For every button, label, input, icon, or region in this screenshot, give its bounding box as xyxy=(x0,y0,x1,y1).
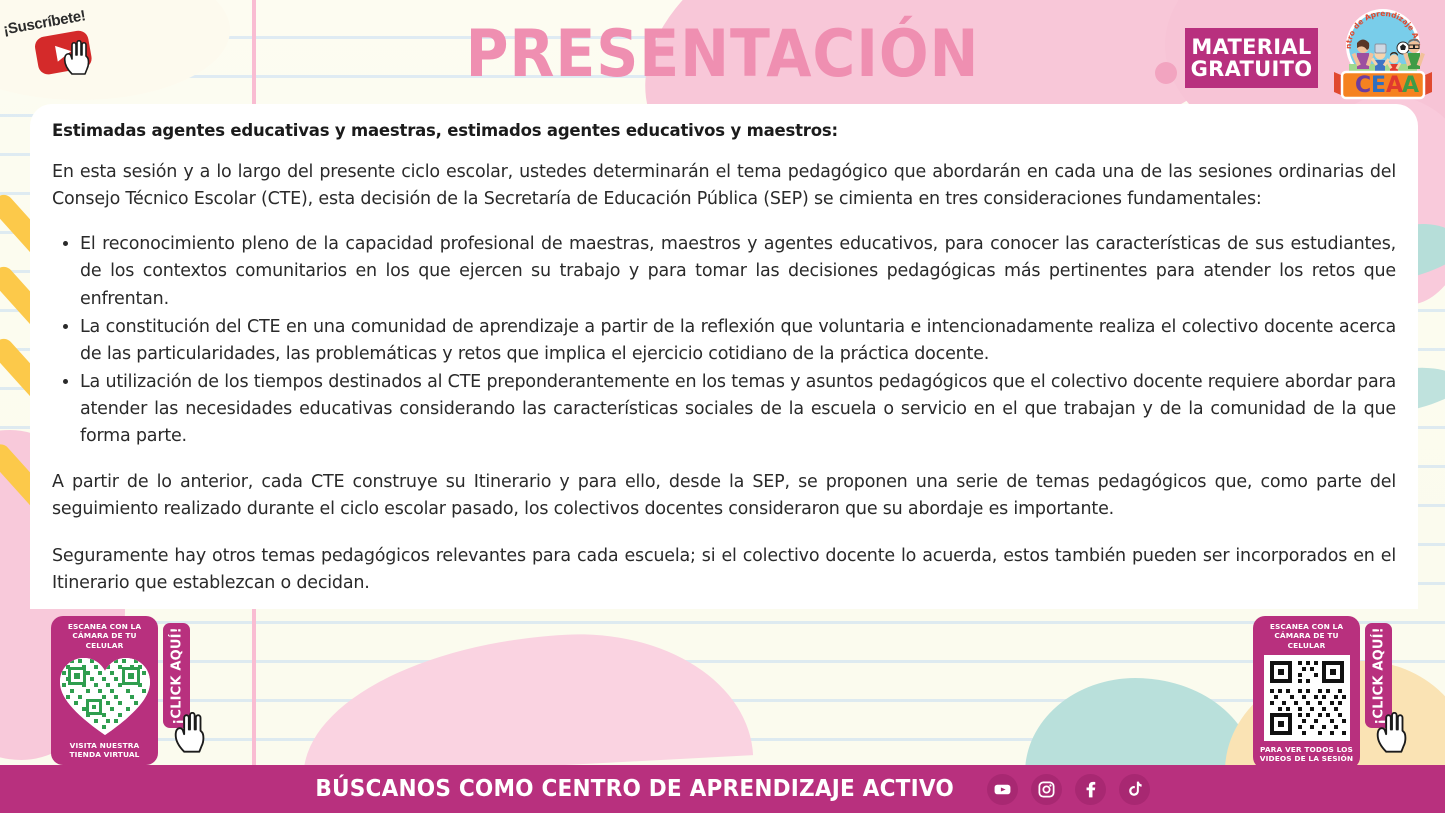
paragraph-2: A partir de lo anterior, cada CTE constr… xyxy=(52,469,1396,523)
svg-text:A: A xyxy=(1402,73,1419,98)
svg-text:A: A xyxy=(1386,73,1403,98)
content-card: Estimadas agentes educativas y maestras,… xyxy=(30,104,1418,609)
youtube-icon[interactable] xyxy=(987,774,1018,805)
footer-text: BÚSCANOS COMO CENTRO DE APRENDIZAJE ACTI… xyxy=(315,776,954,802)
click-here-label: ¡CLICK AQUÍ! xyxy=(169,627,184,725)
list-item: La utilización de los tiempos destinados… xyxy=(80,369,1396,450)
considerations-list: El reconocimiento pleno de la capacidad … xyxy=(80,231,1396,450)
footer-bar: BÚSCANOS COMO CENTRO DE APRENDIZAJE ACTI… xyxy=(0,765,1445,813)
click-here-label: ¡CLICK AQUÍ! xyxy=(1371,627,1386,725)
page-title: PRESENTACIÓN xyxy=(72,17,1373,92)
square-qr-code[interactable] xyxy=(1264,655,1350,741)
qr-caption-bottom: VISITA NUESTRA TIENDA VIRTUAL xyxy=(56,741,153,760)
facebook-icon[interactable] xyxy=(1075,774,1106,805)
material-gratuito-badge: MATERIAL GRATUITO xyxy=(1185,28,1318,88)
click-here-tab-right[interactable]: ¡CLICK AQUÍ! xyxy=(1365,623,1392,728)
qr-caption-top: ESCANEA CON LA CÁMARA DE TU CELULAR xyxy=(56,622,153,650)
svg-text:E: E xyxy=(1371,73,1386,98)
lead-paragraph: Estimadas agentes educativas y maestras,… xyxy=(52,121,1406,140)
qr-caption-top: ESCANEA CON LA CÁMARA DE TU CELULAR xyxy=(1258,622,1355,650)
heart-qr-code[interactable] xyxy=(58,655,152,737)
list-item: El reconocimiento pleno de la capacidad … xyxy=(80,231,1396,312)
badge-line-1: MATERIAL xyxy=(1191,36,1311,58)
qr-card-tienda-virtual[interactable]: ESCANEA CON LA CÁMARA DE TU CELULAR xyxy=(51,616,158,765)
header: ¡Suscríbete! PRESENTACIÓN MATERIAL GRATU… xyxy=(0,0,1445,105)
tiktok-icon[interactable] xyxy=(1119,774,1150,805)
qr-caption-bottom: PARA VER TODOS LOS VIDEOS DE LA SESIÓN xyxy=(1258,745,1355,764)
slide-page: ¡Suscríbete! PRESENTACIÓN MATERIAL GRATU… xyxy=(0,0,1445,813)
qr-card-videos-sesion[interactable]: ESCANEA CON LA CÁMARA DE TU CELULAR xyxy=(1253,616,1360,769)
paragraph-1: En esta sesión y a lo largo del presente… xyxy=(52,159,1396,213)
ceaa-logo: Centro de Aprendizaje Activo xyxy=(1330,6,1436,100)
decor-pink-dot xyxy=(1155,62,1177,84)
list-item: La constitución del CTE en una comunidad… xyxy=(80,314,1396,368)
instagram-icon[interactable] xyxy=(1031,774,1062,805)
paragraph-3: Seguramente hay otros temas pedagógicos … xyxy=(52,543,1396,597)
svg-text:C: C xyxy=(1355,73,1371,98)
click-here-tab-left[interactable]: ¡CLICK AQUÍ! xyxy=(163,623,190,728)
badge-line-2: GRATUITO xyxy=(1191,58,1313,80)
